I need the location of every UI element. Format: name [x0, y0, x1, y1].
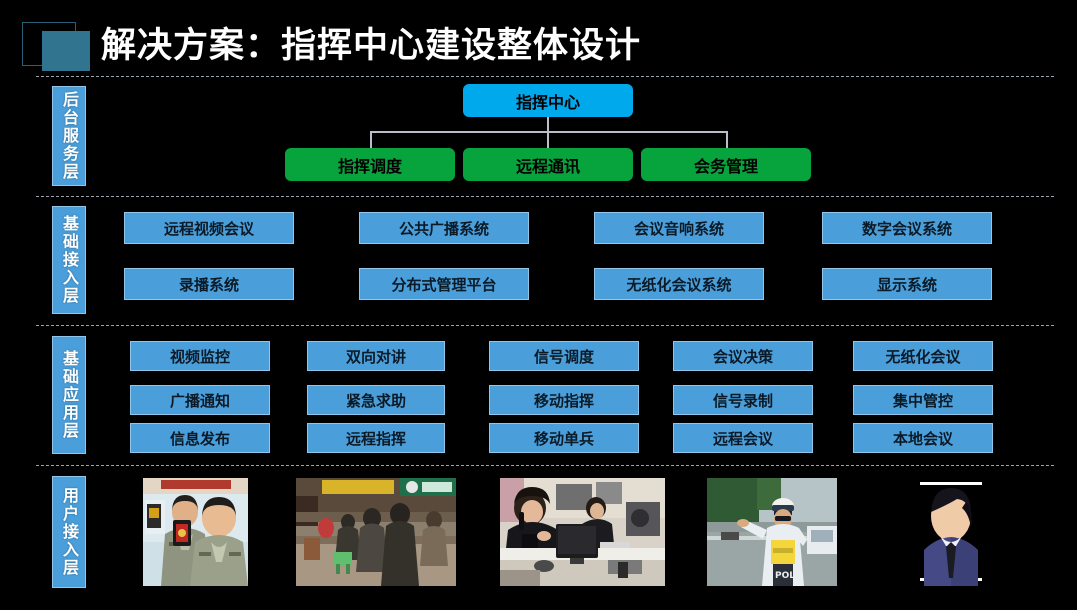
cell-conference-audio-system[interactable]: 会议音响系统	[594, 212, 764, 244]
logo-square-solid-icon	[42, 31, 90, 71]
node-remote-communication[interactable]: 远程通讯	[463, 148, 633, 181]
cell-two-way-intercom[interactable]: 双向对讲	[307, 341, 445, 371]
cell-paperless-conference-system[interactable]: 无纸化会议系统	[594, 268, 764, 300]
cell-paperless-meeting[interactable]: 无纸化会议	[853, 341, 993, 371]
cell-information-release[interactable]: 信息发布	[130, 423, 270, 453]
cell-emergency-help[interactable]: 紧急求助	[307, 385, 445, 415]
photo-street-crowd	[296, 478, 456, 586]
cell-local-meeting[interactable]: 本地会议	[853, 423, 993, 453]
node-command-dispatch[interactable]: 指挥调度	[285, 148, 455, 181]
divider-tier3-tier4	[36, 465, 1054, 466]
photo-avatar-suit	[910, 478, 992, 586]
photo-two-officers	[143, 478, 248, 586]
divider-header	[36, 76, 1054, 77]
cell-mobile-command[interactable]: 移动指挥	[489, 385, 639, 415]
cell-meeting-decision[interactable]: 会议决策	[673, 341, 813, 371]
cell-display-system[interactable]: 显示系统	[822, 268, 992, 300]
cell-remote-command[interactable]: 远程指挥	[307, 423, 445, 453]
page-title: 解决方案：指挥中心建设整体设计	[101, 17, 641, 68]
cell-mobile-single-soldier[interactable]: 移动单兵	[489, 423, 639, 453]
cell-video-surveillance[interactable]: 视频监控	[130, 341, 270, 371]
layer-tag-basic-application: 基础应用层	[52, 336, 86, 454]
slide-header: 解决方案：指挥中心建设整体设计	[0, 0, 1077, 76]
cell-public-broadcast-system[interactable]: 公共广播系统	[359, 212, 529, 244]
cell-signal-dispatch[interactable]: 信号调度	[489, 341, 639, 371]
divider-tier2-tier3	[36, 325, 1054, 326]
layer-tag-basic-access: 基础接入层	[52, 206, 86, 314]
layer-tag-backend-service: 后台服务层	[52, 86, 86, 186]
node-meeting-management[interactable]: 会务管理	[641, 148, 811, 181]
cell-centralized-control[interactable]: 集中管控	[853, 385, 993, 415]
connector-drop-left	[370, 131, 372, 148]
node-command-center[interactable]: 指挥中心	[463, 84, 633, 117]
divider-tier1-tier2	[36, 196, 1054, 197]
cell-distributed-management-platform[interactable]: 分布式管理平台	[359, 268, 529, 300]
connector-drop-right	[726, 131, 728, 148]
cell-broadcast-notification[interactable]: 广播通知	[130, 385, 270, 415]
photo-traffic-officer: POLI	[707, 478, 837, 586]
cell-remote-meeting[interactable]: 远程会议	[673, 423, 813, 453]
slide-root: 解决方案：指挥中心建设整体设计 后台服务层 基础接入层 基础应用层 用户接入层 …	[0, 0, 1077, 610]
cell-signal-recording[interactable]: 信号录制	[673, 385, 813, 415]
connector-horizontal-bus	[370, 131, 727, 133]
connector-root-stem	[547, 117, 549, 132]
cell-recording-system[interactable]: 录播系统	[124, 268, 294, 300]
layer-tag-user-access: 用户接入层	[52, 476, 86, 588]
photo-dispatch-center	[500, 478, 665, 586]
connector-drop-center	[547, 131, 549, 148]
cell-digital-conference-system[interactable]: 数字会议系统	[822, 212, 992, 244]
cell-remote-video-conference[interactable]: 远程视频会议	[124, 212, 294, 244]
svg-text:POLI: POLI	[775, 571, 798, 581]
